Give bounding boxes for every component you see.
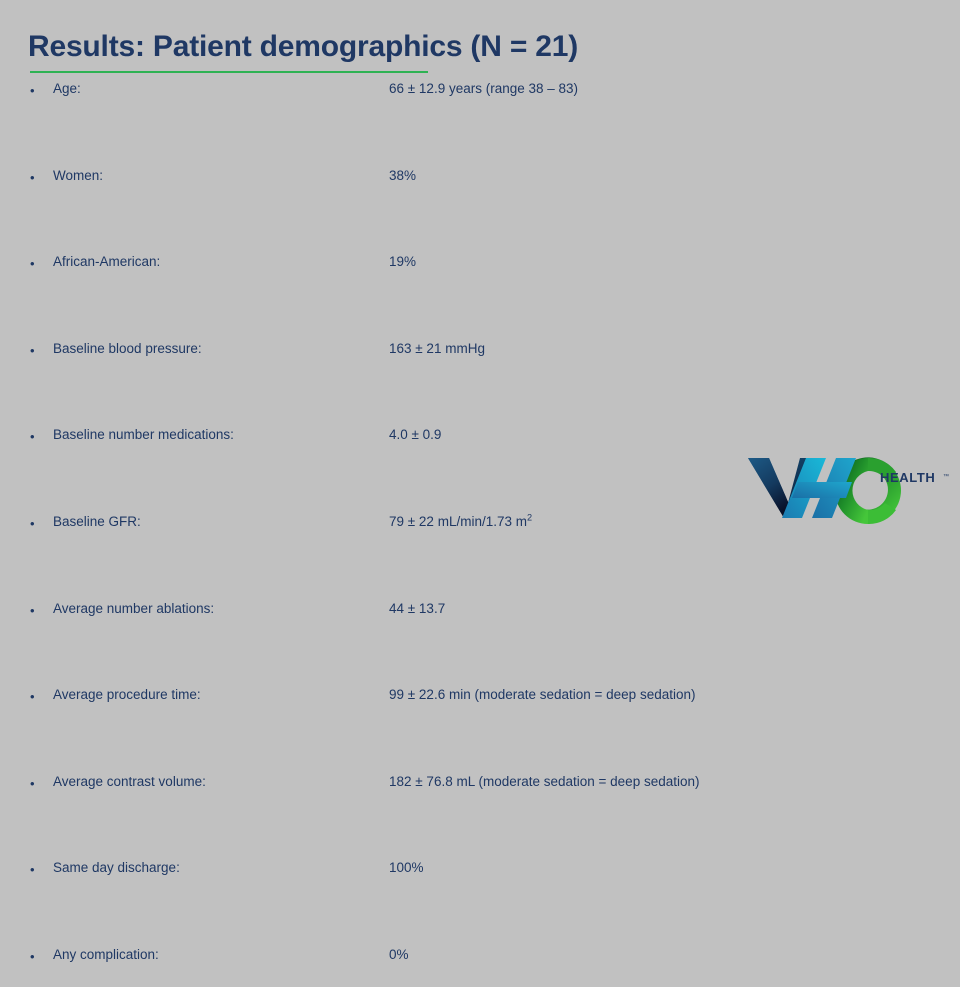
slide-canvas: Results: Patient demographics (N = 21) •…: [0, 0, 960, 540]
bullet-marker-icon: •: [30, 255, 38, 272]
bullet-marker-icon: •: [30, 169, 38, 186]
bullet-marker-icon: •: [30, 428, 38, 445]
bullet-value: 38%: [389, 165, 416, 187]
bullet-value: 182 ± 76.8 mL (moderate sedation = deep …: [389, 771, 700, 793]
vhc-health-logo: HEALTH ™: [740, 452, 955, 530]
bullet-marker-icon: •: [30, 515, 38, 532]
bullet-row: •Average number ablations:44 ± 13.7: [0, 598, 960, 641]
bullet-marker-icon: •: [30, 948, 38, 965]
bullet-row: •African-American:19%: [0, 251, 960, 294]
bullet-value: 163 ± 21 mmHg: [389, 338, 485, 360]
bullet-label: Average contrast volume:: [53, 771, 206, 793]
bullet-label: Baseline blood pressure:: [53, 338, 202, 360]
bullet-label: African-American:: [53, 251, 160, 273]
bullet-label: Age:: [53, 78, 81, 100]
bullet-marker-icon: •: [30, 82, 38, 99]
bullet-row: •Average contrast volume:182 ± 76.8 mL (…: [0, 771, 960, 814]
bullet-row: •Women:38%: [0, 165, 960, 208]
bullet-marker-icon: •: [30, 342, 38, 359]
bullet-value: 100%: [389, 857, 424, 879]
bullet-label: Same day discharge:: [53, 857, 180, 879]
bullet-row: •Baseline blood pressure:163 ± 21 mmHg: [0, 338, 960, 381]
bullet-value-superscript: 2: [527, 512, 532, 522]
bullet-row: •Average procedure time:99 ± 22.6 min (m…: [0, 684, 960, 727]
bullet-label: Any complication:: [53, 944, 159, 966]
title-underline-rule: [30, 71, 428, 73]
vhc-logo-mark: [740, 452, 955, 530]
bullet-label: Baseline GFR:: [53, 511, 141, 533]
page-title: Results: Patient demographics (N = 21): [28, 28, 928, 66]
bullet-value: 99 ± 22.6 min (moderate sedation = deep …: [389, 684, 695, 706]
bullet-marker-icon: •: [30, 861, 38, 878]
bullet-value: 0%: [389, 944, 409, 966]
bullet-value: 4.0 ± 0.9: [389, 424, 441, 446]
bullet-value: 66 ± 12.9 years (range 38 – 83): [389, 78, 578, 100]
logo-tagline: HEALTH: [880, 470, 935, 485]
bullet-value: 19%: [389, 251, 416, 273]
bullet-value: 79 ± 22 mL/min/1.73 m2: [389, 511, 532, 533]
bullet-row: •Same day discharge:100%: [0, 857, 960, 900]
logo-trademark-icon: ™: [943, 474, 949, 480]
bullet-value-text: 79 ± 22 mL/min/1.73 m: [389, 514, 527, 529]
bullet-value: 44 ± 13.7: [389, 598, 445, 620]
bullet-row: •Age:66 ± 12.9 years (range 38 – 83): [0, 78, 960, 121]
bullet-label: Women:: [53, 165, 103, 187]
bullet-label: Average procedure time:: [53, 684, 201, 706]
title-block: Results: Patient demographics (N = 21): [28, 28, 928, 66]
bullet-row: •Any complication:0%: [0, 944, 960, 987]
bullet-label: Baseline number medications:: [53, 424, 234, 446]
bullet-marker-icon: •: [30, 688, 38, 705]
bullet-marker-icon: •: [30, 602, 38, 619]
bullet-marker-icon: •: [30, 775, 38, 792]
bullet-label: Average number ablations:: [53, 598, 214, 620]
